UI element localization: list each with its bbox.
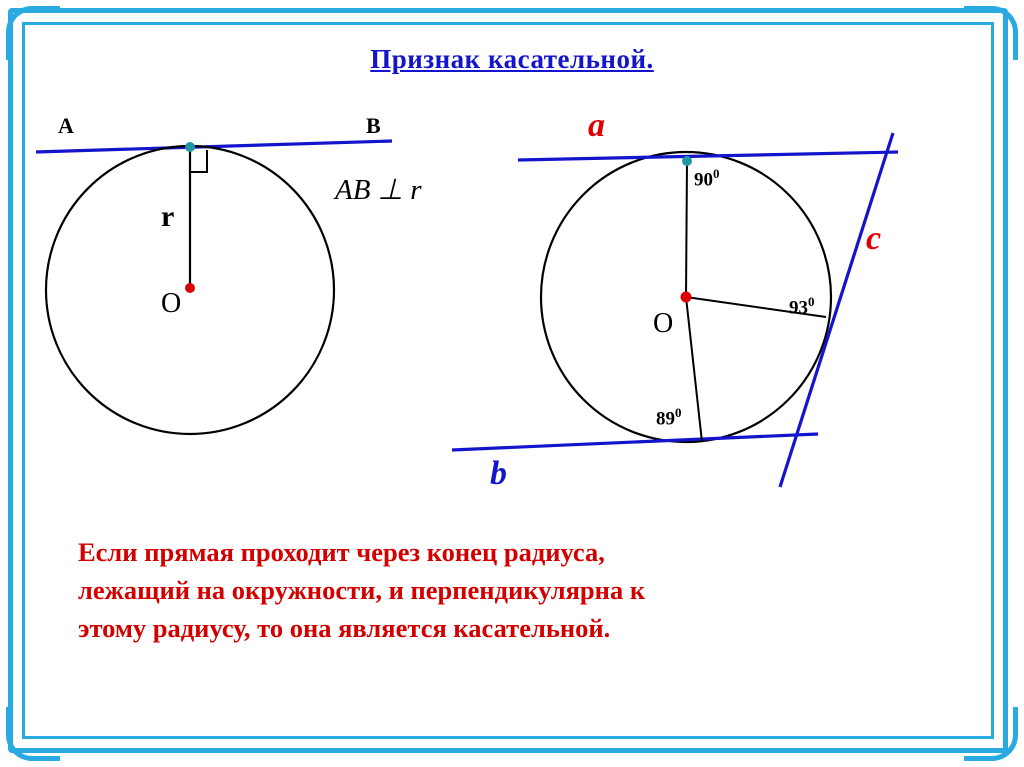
label-line-a: a	[588, 107, 605, 145]
label-O-right: O	[653, 308, 673, 340]
right-tangent-point-dot	[682, 156, 692, 166]
left-center-point-dot	[185, 283, 195, 293]
angle-93-value: 93	[789, 297, 808, 318]
angle-89-value: 89	[656, 408, 675, 429]
angle-label-93: 930	[789, 294, 815, 319]
right-angle-mark-icon	[190, 150, 207, 172]
right-radius-to-b	[686, 297, 702, 442]
angle-label-89: 890	[656, 405, 682, 430]
angle-93-degree-symbol: 0	[808, 294, 815, 309]
statement-text: Если прямая проходит через конец радиуса…	[78, 533, 958, 647]
formula-ab-perp-r: AB ⊥ r	[335, 172, 421, 207]
label-line-c: c	[866, 220, 881, 258]
statement-line-2: лежащий на окружности, и перпендикулярна…	[78, 571, 958, 609]
slide-page: Признак касательной. A	[0, 0, 1024, 767]
angle-89-degree-symbol: 0	[675, 405, 682, 420]
label-r: r	[161, 200, 174, 234]
statement-line-3: этому радиусу, то она является касательн…	[78, 609, 958, 647]
angle-90-value: 90	[694, 169, 713, 190]
label-B: B	[366, 113, 381, 139]
left-tangent-line-AB	[36, 141, 392, 152]
left-tangent-point-dot	[185, 142, 195, 152]
label-O-left: O	[161, 288, 181, 320]
geometry-diagram	[0, 0, 1024, 767]
right-center-point-dot	[681, 292, 692, 303]
angle-label-90: 900	[694, 166, 720, 191]
label-A: A	[58, 113, 74, 139]
statement-line-1: Если прямая проходит через конец радиуса…	[78, 533, 958, 571]
label-line-b: b	[490, 455, 507, 493]
angle-90-degree-symbol: 0	[713, 166, 720, 181]
right-line-b	[452, 434, 818, 450]
right-radius-to-a	[686, 162, 687, 297]
